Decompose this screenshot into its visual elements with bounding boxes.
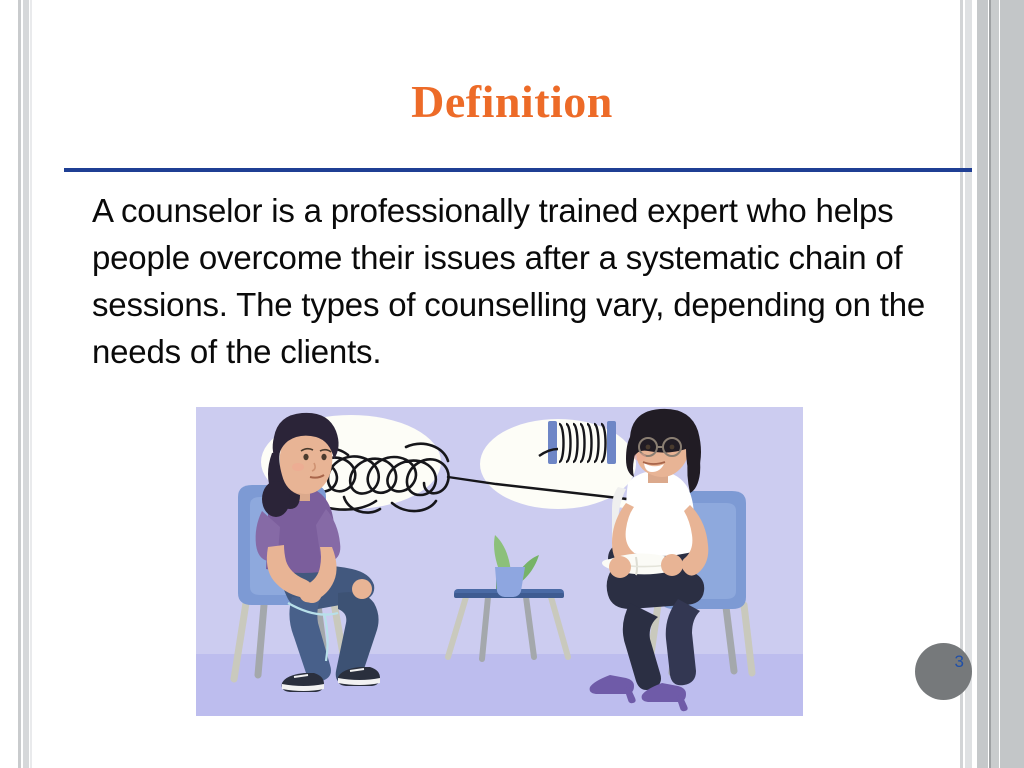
counselling-illustration [196, 407, 803, 716]
slide-root: Definition A counselor is a professional… [0, 0, 1024, 768]
spool-thought-bubble [480, 419, 651, 511]
slide-title: Definition [0, 79, 1024, 125]
page-number-badge: 3 [915, 643, 972, 700]
potted-plant [494, 535, 539, 597]
page-number: 3 [955, 652, 964, 672]
illustration-svg [196, 407, 803, 716]
side-table [448, 589, 568, 659]
title-divider-rule [64, 168, 972, 172]
slide-body-text: A counselor is a professionally trained … [92, 187, 972, 375]
